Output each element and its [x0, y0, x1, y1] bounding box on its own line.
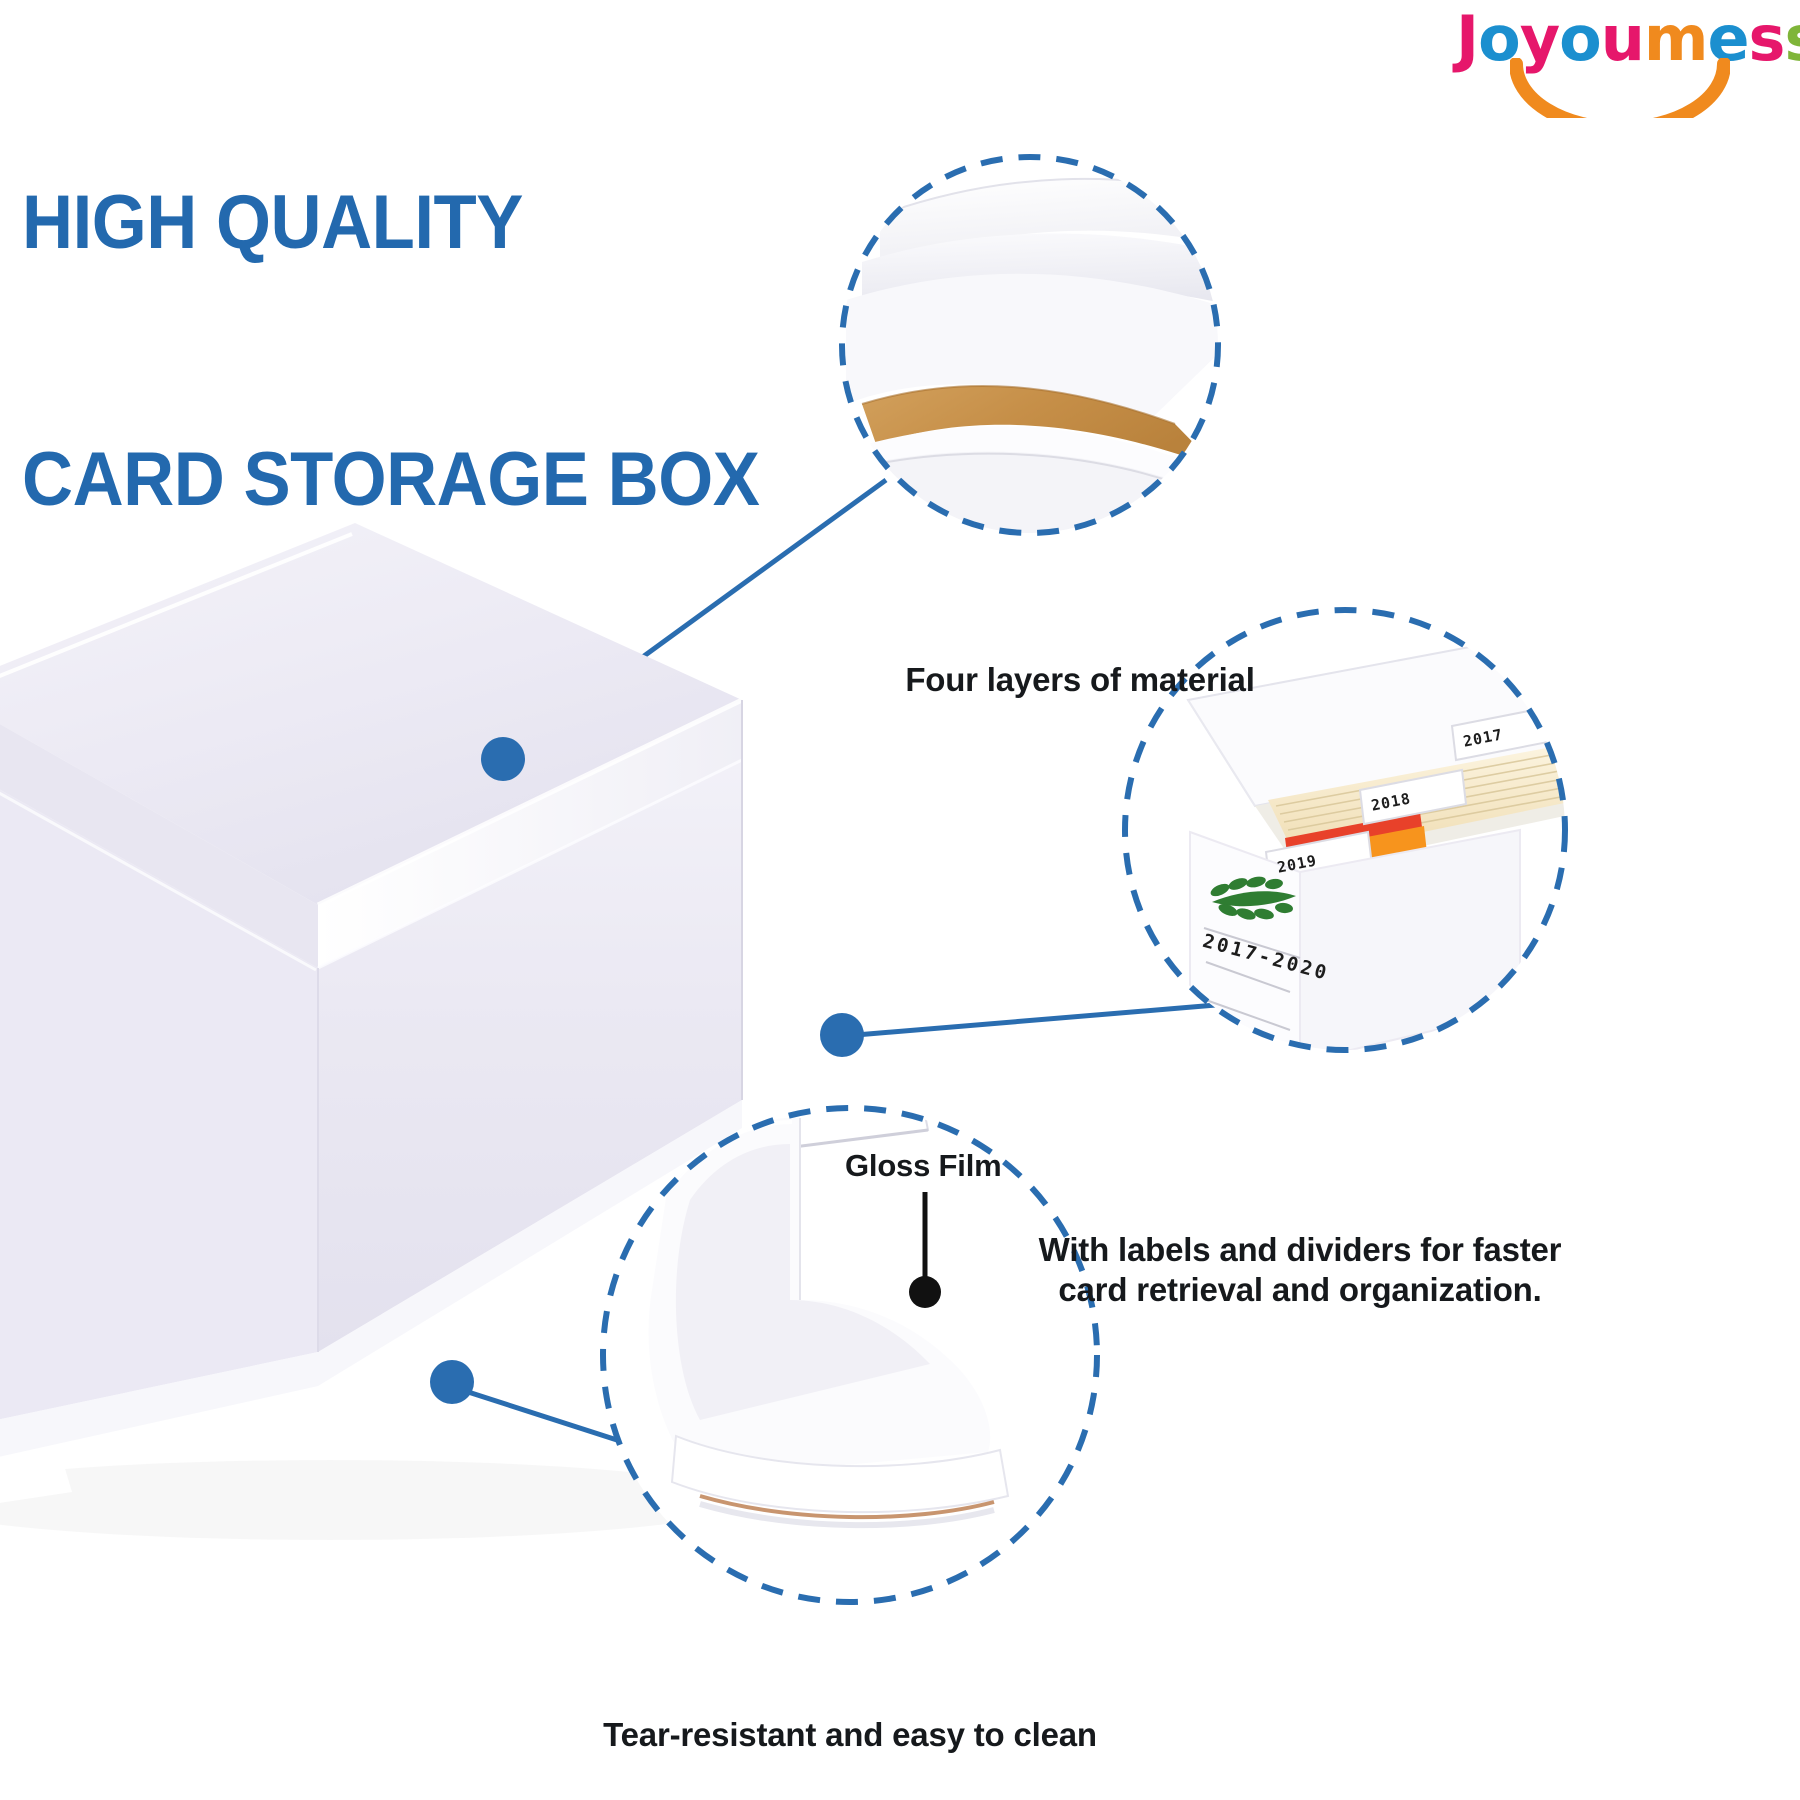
product-illustration: [0, 0, 1800, 1800]
marker-dot-3: [430, 1360, 474, 1404]
caption-tear-resistant: Tear-resistant and easy to clean: [480, 1715, 1220, 1755]
callout-four-layers: [842, 157, 1260, 533]
marker-dot-1: [481, 737, 525, 781]
caption-four-layers: Four layers of material: [770, 660, 1390, 700]
caption-labels-dividers: With labels and dividers for faster card…: [930, 1230, 1670, 1311]
gloss-film-label: Gloss Film: [845, 1148, 1001, 1184]
infographic-canvas: HIGH QUALITY CARD STORAGE BOX Joyoumess: [0, 0, 1800, 1800]
marker-dot-2: [820, 1013, 864, 1057]
box-right-panel: [1300, 830, 1520, 1062]
leader-line-2: [856, 1005, 1216, 1035]
